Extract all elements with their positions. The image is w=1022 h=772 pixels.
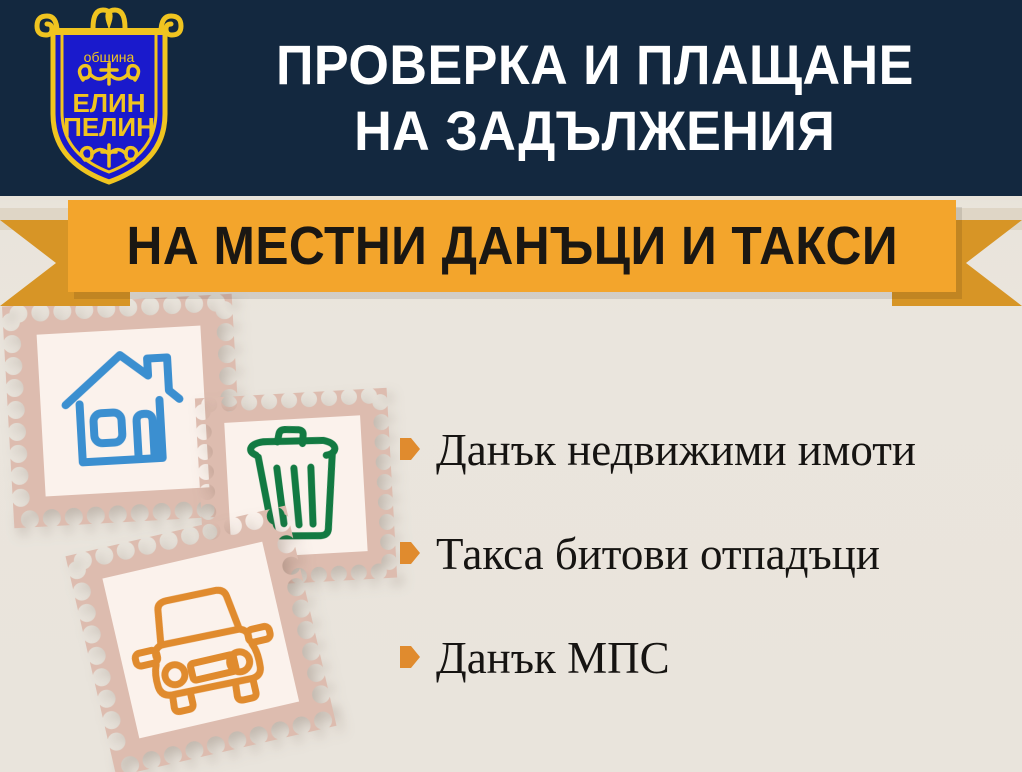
arrow-bullet-icon <box>400 542 420 564</box>
poster-title: ПРОВЕРКА И ПЛАЩАНЕ НА ЗАДЪЛЖЕНИЯ <box>190 18 1000 178</box>
tax-type-list: Данък недвижими имоти Такса битови отпад… <box>400 424 1010 684</box>
title-line-2: НА ЗАДЪЛЖЕНИЯ <box>354 98 835 164</box>
logo-line-2: ПЕЛИН <box>63 112 155 142</box>
arrow-bullet-icon <box>400 438 420 460</box>
list-item-label: Данък недвижими имоти <box>436 424 916 476</box>
ribbon-banner: НА МЕСТНИ ДАНЪЦИ И ТАКСИ <box>0 196 1022 306</box>
poster-canvas: община ЕЛИН ПЕЛИН ПРОВЕ <box>0 0 1022 772</box>
list-item[interactable]: Такса битови отпадъци <box>400 528 1010 580</box>
list-item[interactable]: Данък МПС <box>400 632 1010 684</box>
list-item-label: Данък МПС <box>436 632 670 684</box>
ribbon-text: НА МЕСТНИ ДАНЪЦИ И ТАКСИ <box>126 218 898 274</box>
list-item-label: Такса битови отпадъци <box>436 528 880 580</box>
ribbon-main-panel: НА МЕСТНИ ДАНЪЦИ И ТАКСИ <box>68 200 956 292</box>
arrow-bullet-icon <box>400 646 420 668</box>
title-line-1: ПРОВЕРКА И ПЛАЩАНЕ <box>276 32 914 98</box>
municipality-logo: община ЕЛИН ПЕЛИН <box>33 2 185 190</box>
list-item[interactable]: Данък недвижими имоти <box>400 424 1010 476</box>
